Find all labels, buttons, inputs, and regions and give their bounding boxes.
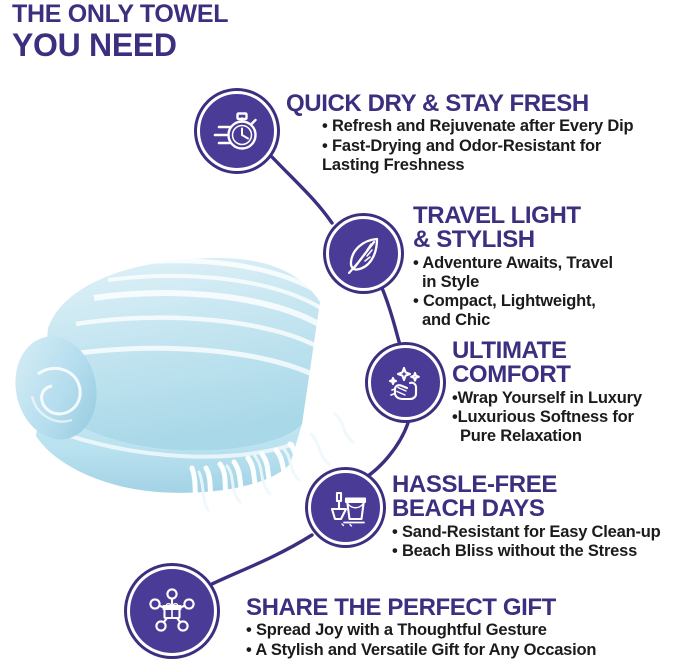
headline-line-2: YOU NEED [12, 29, 228, 61]
feature-bullets-travel-light: • Adventure Awaits, Travel in Style • Co… [413, 254, 675, 331]
feature-text-travel-light: TRAVEL LIGHT & STYLISH • Adventure Await… [413, 204, 675, 330]
headline-line-1: THE ONLY TOWEL [12, 2, 228, 27]
feature-icon-ultimate-comfort[interactable] [368, 345, 443, 420]
feature-bullets-ultimate-comfort: •Wrap Yourself in Luxury •Luxurious Soft… [452, 389, 678, 446]
page-title: THE ONLY TOWEL YOU NEED [12, 2, 228, 61]
feature-bullets-perfect-gift: • Spread Joy with a Thoughtful Gesture •… [246, 621, 676, 659]
bullet-item: Pure Relaxation [452, 427, 678, 446]
feature-title-perfect-gift: SHARE THE PERFECT GIFT [246, 596, 676, 620]
bullet-item: and Chic [413, 311, 675, 330]
stopwatch-icon [211, 105, 263, 157]
feature-icon-quick-dry[interactable] [197, 91, 277, 171]
feature-title-hassle-free: HASSLE-FREE BEACH DAYS [392, 473, 676, 522]
feature-title-ultimate-comfort: ULTIMATE COMFORT [452, 339, 678, 388]
bullet-item: •Luxurious Softness for [452, 408, 678, 427]
feature-icon-travel-light[interactable] [326, 216, 401, 291]
bullet-item: • Sand-Resistant for Easy Clean-up [392, 523, 676, 542]
product-infographic: THE ONLY TOWEL YOU NEED [0, 0, 679, 660]
towel-photo [2, 228, 374, 518]
bullet-item: • Beach Bliss without the Stress [392, 542, 676, 561]
feature-title-travel-light: TRAVEL LIGHT & STYLISH [413, 204, 675, 253]
bullet-item: • Refresh and Rejuvenate after Every Dip [322, 117, 676, 136]
feature-text-ultimate-comfort: ULTIMATE COMFORT •Wrap Yourself in Luxur… [452, 339, 678, 446]
share-network-gift-icon [143, 582, 201, 640]
feature-text-hassle-free: HASSLE-FREE BEACH DAYS • Sand-Resistant … [392, 473, 676, 561]
sparkle-hands-towel-icon [382, 359, 430, 407]
bullet-item: • Spread Joy with a Thoughtful Gesture [246, 621, 676, 640]
feature-text-perfect-gift: SHARE THE PERFECT GIFT • Spread Joy with… [246, 596, 676, 660]
feature-icon-hassle-free[interactable] [308, 470, 383, 545]
feature-title-quick-dry: QUICK DRY & STAY FRESH [286, 92, 676, 116]
feature-text-quick-dry: QUICK DRY & STAY FRESH • Refresh and Rej… [286, 92, 676, 175]
bucket-and-shovel-icon [322, 484, 370, 532]
bullet-item: • Fast-Drying and Odor-Resistant for [322, 137, 676, 156]
bullet-item: • A Stylish and Versatile Gift for Any O… [246, 641, 676, 660]
bullet-item: • Compact, Lightweight, [413, 292, 675, 311]
feature-bullets-hassle-free: • Sand-Resistant for Easy Clean-up • Bea… [392, 523, 676, 561]
feature-bullets-quick-dry: • Refresh and Rejuvenate after Every Dip… [322, 117, 676, 174]
feather-icon [341, 231, 387, 277]
bullet-item: Lasting Freshness [322, 156, 676, 175]
bullet-item: •Wrap Yourself in Luxury [452, 389, 678, 408]
bullet-item: in Style [413, 273, 675, 292]
bullet-item: • Adventure Awaits, Travel [413, 254, 675, 273]
feature-icon-perfect-gift[interactable] [127, 566, 217, 656]
